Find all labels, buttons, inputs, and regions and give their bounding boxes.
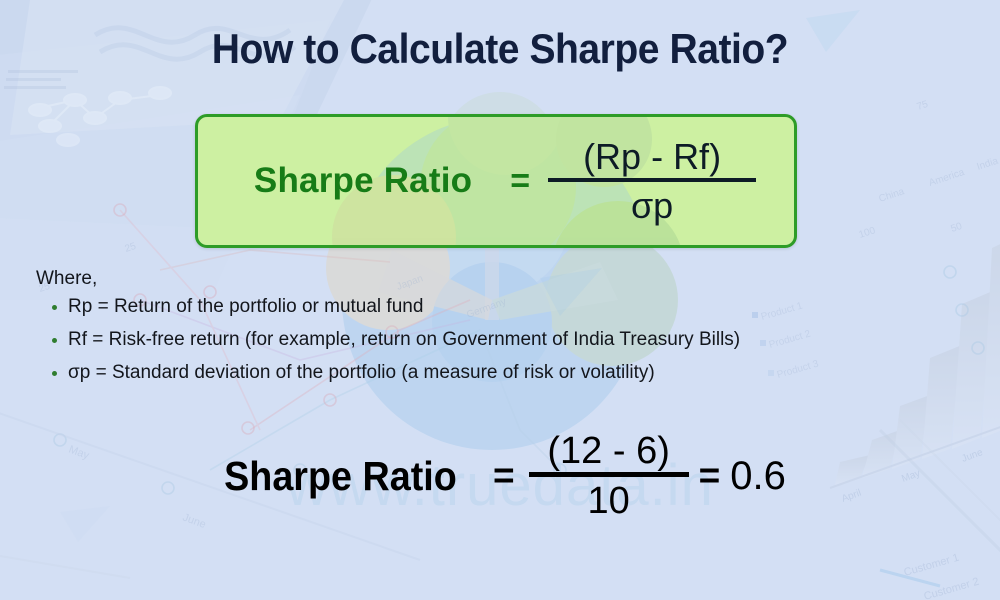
example-equals-sign: =: [493, 455, 515, 497]
svg-text:India: India: [976, 156, 1000, 173]
formula-fraction: (Rp - Rf) σp: [548, 139, 756, 224]
bg-chart-country-labels: China America India 100: [858, 156, 1000, 241]
example-fraction: (12 - 6) 10: [529, 432, 689, 520]
example-denominator: 10: [588, 477, 630, 520]
definition-text: Rp = Return of the portfolio or mutual f…: [68, 296, 423, 317]
svg-text:America: America: [928, 167, 967, 189]
svg-text:Product 3: Product 3: [776, 358, 821, 380]
definition-text: Rf = Risk-free return (for example, retu…: [68, 329, 740, 350]
page-title: How to Calculate Sharpe Ratio?: [35, 25, 965, 73]
svg-text:Product 1: Product 1: [760, 300, 805, 322]
formula-denominator: σp: [631, 182, 673, 224]
bullet-dot-icon: [52, 338, 57, 343]
example-equals-sign-2: =: [699, 455, 721, 497]
svg-text:Customer 2: Customer 2: [923, 576, 981, 600]
svg-text:Customer 1: Customer 1: [903, 552, 961, 579]
example-result: 0.6: [730, 454, 786, 499]
formula-label: Sharpe Ratio: [254, 161, 472, 201]
worked-example-formula: Sharpe Ratio = (12 - 6) 10 = 0.6: [0, 432, 1000, 520]
definitions-heading: Where,: [36, 268, 740, 290]
svg-text:China: China: [878, 186, 907, 205]
slide-canvas: April May June China America India 100 P…: [0, 0, 1000, 600]
formula-numerator: (Rp - Rf): [573, 139, 731, 178]
list-item: Rp = Return of the portfolio or mutual f…: [50, 296, 740, 318]
definitions-list: Rp = Return of the portfolio or mutual f…: [36, 296, 740, 384]
bg-chart-product-legend: Product 1 Product 2 Product 3: [752, 300, 820, 380]
svg-text:100: 100: [858, 225, 878, 241]
svg-text:Product 2: Product 2: [768, 328, 813, 350]
svg-text:25: 25: [124, 241, 138, 255]
example-numerator: (12 - 6): [539, 432, 677, 472]
definition-text: σp = Standard deviation of the portfolio…: [68, 362, 655, 383]
bullet-dot-icon: [52, 305, 57, 310]
list-item: σp = Standard deviation of the portfolio…: [50, 362, 740, 384]
list-item: Rf = Risk-free return (for example, retu…: [50, 329, 740, 351]
svg-text:75: 75: [916, 99, 930, 113]
formula-equals-sign: =: [510, 162, 530, 201]
bg-node-diagram: [29, 87, 171, 146]
svg-text:50: 50: [950, 221, 964, 235]
sharpe-ratio-formula-box: Sharpe Ratio = (Rp - Rf) σp: [195, 114, 797, 248]
example-label: Sharpe Ratio: [224, 453, 457, 500]
bullet-dot-icon: [52, 371, 57, 376]
formula-row: Sharpe Ratio = (Rp - Rf) σp: [198, 139, 794, 224]
definitions-block: Where, Rp = Return of the portfolio or m…: [36, 268, 740, 395]
